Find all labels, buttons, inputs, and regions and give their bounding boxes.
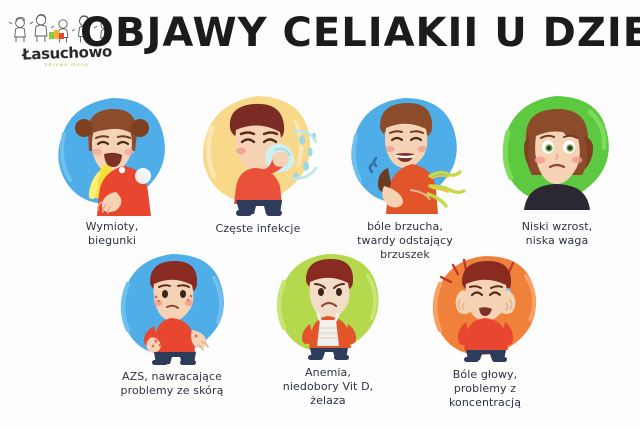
poster-header: Łasuchowo zdrowe menu OBJAWY CELIAKII U … xyxy=(0,0,640,88)
symptom-item-anemia[interactable]: Anemia, niedobory Vit D, żelaza xyxy=(248,250,408,408)
symptom-item-frequent-infections[interactable]: Częste infekcje xyxy=(178,92,338,236)
symptom-illustration-girl-short-stature xyxy=(478,92,636,216)
symptom-caption: Częste infekcje xyxy=(178,222,338,236)
symptom-caption: Wymioty, biegunki xyxy=(32,220,192,248)
symptom-item-vomiting[interactable]: Wymioty, biegunki xyxy=(32,94,192,248)
symptom-item-abdominal-pain[interactable]: bóle brzucha, twardy odstający brzuszek xyxy=(326,94,484,262)
symptom-illustration-boy-anemia xyxy=(248,250,408,362)
symptom-item-short-stature[interactable]: Niski wzrost, niska waga xyxy=(478,92,636,248)
logo-tagline: zdrowe menu xyxy=(6,63,128,68)
symptom-illustration-boy-sneezing xyxy=(178,92,338,218)
symptom-illustration-boy-stomach-ache xyxy=(326,94,484,216)
symptom-caption: Anemia, niedobory Vit D, żelaza xyxy=(248,366,408,408)
page-title: OBJAWY CELIAKII U DZIECI xyxy=(80,6,636,62)
symptom-caption: Niski wzrost, niska waga xyxy=(478,220,636,248)
symptom-illustration-girl-vomiting xyxy=(32,94,192,216)
symptom-caption: AZS, nawracające problemy ze skórą xyxy=(88,370,256,398)
symptom-illustration-boy-itchy-skin xyxy=(88,250,256,366)
symptom-illustration-boy-headache xyxy=(404,252,566,364)
infographic-poster: Łasuchowo zdrowe menu OBJAWY CELIAKII U … xyxy=(0,0,640,427)
symptom-item-skin-problems[interactable]: AZS, nawracające problemy ze skórą xyxy=(88,250,256,398)
symptom-item-headache[interactable]: Bóle głowy, problemy z koncentracją xyxy=(404,252,566,410)
symptom-caption: Bóle głowy, problemy z koncentracją xyxy=(404,368,566,410)
